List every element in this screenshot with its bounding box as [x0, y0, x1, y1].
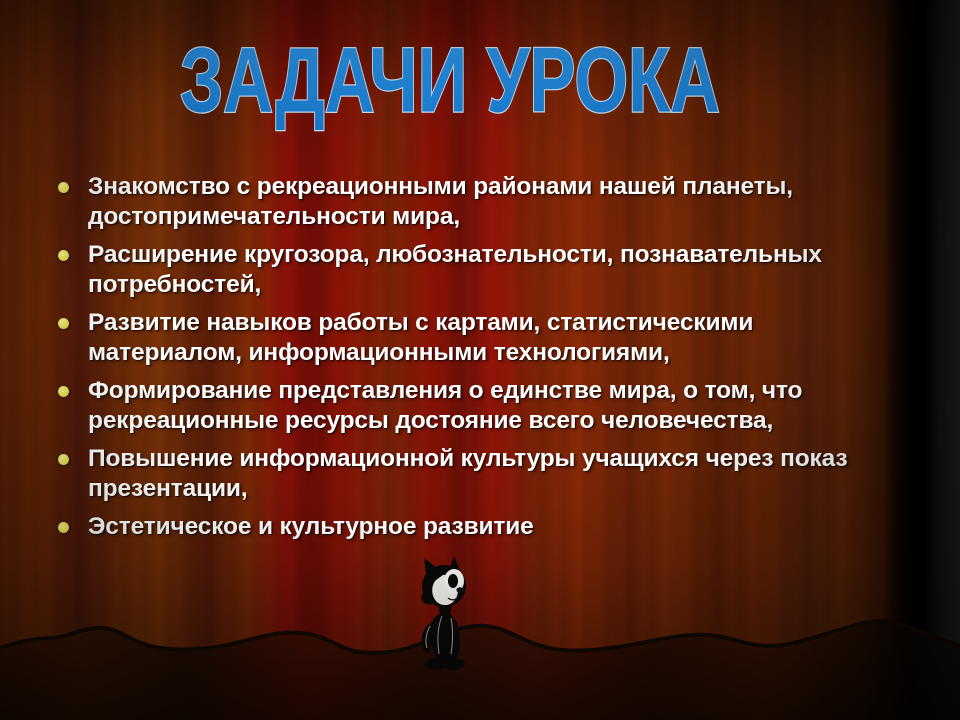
bullet-dot-icon	[58, 522, 69, 533]
bullet-text: Эстетическое и культурное развитие	[88, 512, 900, 542]
bullet-list: Знакомство с рекреационными районами наш…	[48, 172, 900, 550]
list-item: Развитие навыков работы с картами, стати…	[48, 308, 900, 368]
list-item: Знакомство с рекреационными районами наш…	[48, 172, 900, 232]
list-item: Расширение кругозора, любознательности, …	[48, 240, 900, 300]
bullet-dot-icon	[58, 454, 69, 465]
bullet-dot-icon	[58, 250, 69, 261]
bullet-dot-icon	[58, 182, 69, 193]
presentation-slide: ЗАДАЧИ УРОКА Знакомство с рекреационными…	[0, 0, 960, 720]
bullet-text: Формирование представления о единстве ми…	[88, 376, 900, 436]
list-item: Эстетическое и культурное развитие	[48, 512, 900, 542]
list-item: Формирование представления о единстве ми…	[48, 376, 900, 436]
bullet-text: Знакомство с рекреационными районами наш…	[88, 172, 900, 232]
bullet-text: Расширение кругозора, любознательности, …	[88, 240, 900, 300]
cartoon-cat-icon	[404, 556, 490, 672]
bullet-text: Повышение информационной культуры учащих…	[88, 444, 900, 504]
list-item: Повышение информационной культуры учащих…	[48, 444, 900, 504]
bullet-dot-icon	[58, 318, 69, 329]
bullet-text: Развитие навыков работы с картами, стати…	[88, 308, 900, 368]
bullet-dot-icon	[58, 386, 69, 397]
